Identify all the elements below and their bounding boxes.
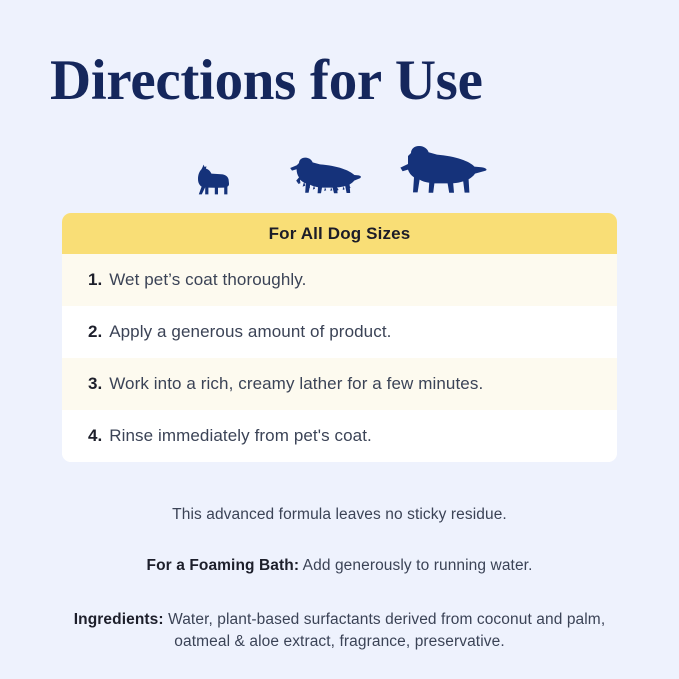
step-number: 4. (88, 426, 102, 446)
dog-size-illustrations (0, 138, 679, 196)
steps-list: 1. Wet pet’s coat thoroughly. 2. Apply a… (62, 254, 617, 462)
list-item: 4. Rinse immediately from pet's coat. (62, 410, 617, 462)
list-item: 2. Apply a generous amount of product. (62, 306, 617, 358)
footer-notes: This advanced formula leaves no sticky r… (0, 497, 679, 653)
ingredients-note: Ingredients: Water, plant-based surfacta… (0, 609, 679, 653)
ingredients-text: Water, plant-based surfactants derived f… (164, 611, 606, 650)
list-item: 1. Wet pet’s coat thoroughly. (62, 254, 617, 306)
directions-card: For All Dog Sizes 1. Wet pet’s coat thor… (62, 213, 617, 462)
page-title: Directions for Use (50, 49, 483, 113)
small-dog-silhouette (192, 164, 234, 196)
step-text: Rinse immediately from pet's coat. (109, 426, 372, 446)
step-number: 2. (88, 322, 102, 342)
step-number: 1. (88, 270, 102, 290)
directions-for-use-page: Directions for Use For All Dog Sizes 1. … (0, 0, 679, 679)
ingredients-label: Ingredients: (74, 611, 164, 628)
step-text: Wet pet’s coat thoroughly. (109, 270, 306, 290)
foaming-bath-text: Add generously to running water. (299, 557, 532, 574)
list-item: 3. Work into a rich, creamy lather for a… (62, 358, 617, 410)
residue-note: This advanced formula leaves no sticky r… (0, 506, 679, 524)
step-text: Apply a generous amount of product. (109, 322, 391, 342)
medium-dog-silhouette (286, 156, 362, 196)
foaming-bath-note: For a Foaming Bath: Add generously to ru… (0, 557, 679, 575)
card-header-title: For All Dog Sizes (62, 213, 617, 254)
large-dog-silhouette (399, 144, 489, 196)
step-number: 3. (88, 374, 102, 394)
foaming-bath-label: For a Foaming Bath: (147, 557, 300, 574)
step-text: Work into a rich, creamy lather for a fe… (109, 374, 483, 394)
